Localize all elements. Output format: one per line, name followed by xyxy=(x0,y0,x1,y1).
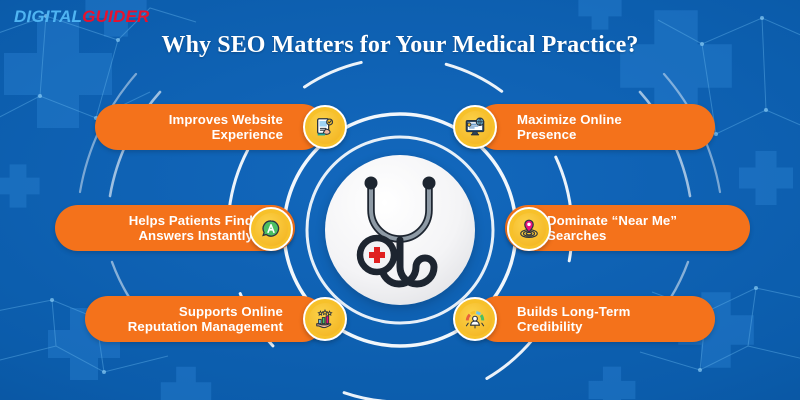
benefit-label: Improves Website Experience xyxy=(169,112,283,143)
benefit-pill-improves-website-experience[interactable]: Improves Website Experience xyxy=(95,104,325,150)
answer-bubble-icon[interactable] xyxy=(249,207,293,251)
brand-logo-digital: DIGITAL xyxy=(14,7,82,26)
benefit-label: Dominate “Near Me” Searches xyxy=(547,213,677,244)
website-click-icon[interactable] xyxy=(303,105,347,149)
benefit-pill-builds-long-term-credibility[interactable]: Builds Long-Term Credibility xyxy=(475,296,715,342)
answer-bubble-icon-inner xyxy=(255,213,288,246)
benefit-label: Maximize Online Presence xyxy=(517,112,622,143)
hand-rating-chart-icon[interactable] xyxy=(303,297,347,341)
gauge-trust-icon[interactable] xyxy=(453,297,497,341)
location-pin-radar-icon-inner xyxy=(513,213,546,246)
brand-logo: DIGITALGUIDER xyxy=(14,8,149,25)
website-click-icon-inner xyxy=(309,111,342,144)
hand-rating-chart-icon-inner xyxy=(309,303,342,336)
location-pin-radar-icon[interactable] xyxy=(507,207,551,251)
benefit-label: Builds Long-Term Credibility xyxy=(517,304,630,335)
gauge-trust-icon-inner xyxy=(459,303,492,336)
benefit-pill-maximize-online-presence[interactable]: Maximize Online Presence xyxy=(475,104,715,150)
benefit-label: Supports Online Reputation Management xyxy=(128,304,283,335)
page-title: Why SEO Matters for Your Medical Practic… xyxy=(0,32,800,59)
monitor-globe-icon[interactable] xyxy=(453,105,497,149)
benefit-label: Helps Patients Find Answers Instantly xyxy=(129,213,253,244)
brand-logo-guider: GUIDER xyxy=(82,7,149,26)
infographic-canvas: DIGITALGUIDER Why SEO Matters for Your M… xyxy=(0,0,800,400)
stethoscope-icon xyxy=(325,155,475,305)
monitor-globe-icon-inner xyxy=(459,111,492,144)
benefit-pill-supports-online-reputation[interactable]: Supports Online Reputation Management xyxy=(85,296,325,342)
